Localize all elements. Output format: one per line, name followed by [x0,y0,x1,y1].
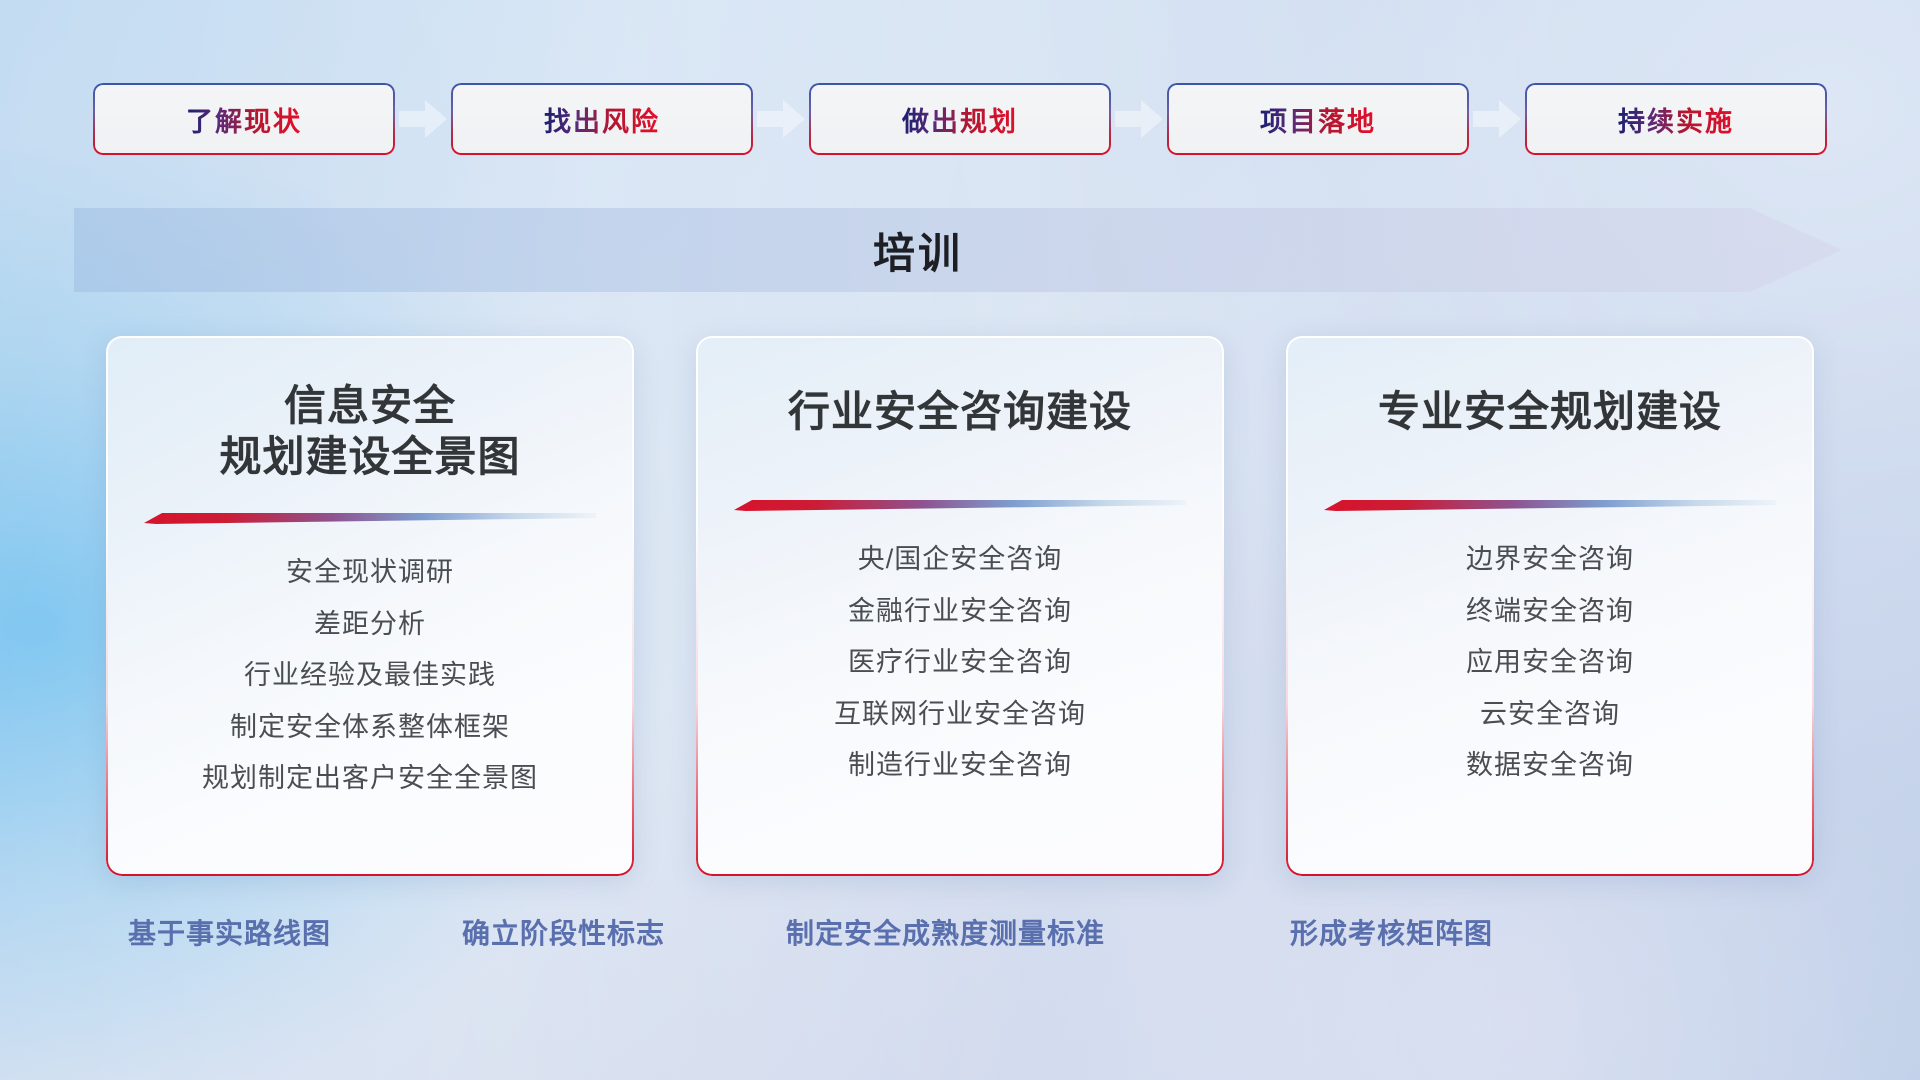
banner-title: 培训 [74,208,1842,292]
list-item: 制造行业安全咨询 [848,747,1072,783]
caption-2: 确立阶段性标志 [462,912,665,952]
list-item: 行业经验及最佳实践 [244,657,496,693]
list-item: 差距分析 [314,606,426,642]
card-2-divider [734,499,1186,511]
list-item: 数据安全咨询 [1466,747,1634,783]
card-2-list: 央/国企安全咨询 金融行业安全咨询 医疗行业安全咨询 互联网行业安全咨询 制造行… [730,541,1190,783]
list-item: 医疗行业安全咨询 [848,644,1072,680]
step-box-5[interactable]: 持续实施 [1525,83,1827,155]
list-item: 制定安全体系整体框架 [230,709,510,745]
card-row: 信息安全 规划建设全景图 [0,336,1920,876]
slide-canvas: 了解现状 找出风险 做出规划 项目落地 [0,0,1920,1080]
step-label-1: 了解现状 [186,100,302,139]
right-arrow-icon-2 [753,94,809,144]
list-item: 规划制定出客户安全全景图 [202,760,538,796]
list-item: 云安全咨询 [1480,696,1620,732]
card-2-title: 行业安全咨询建设 [788,386,1132,437]
card-1-divider [144,512,596,524]
card-3-divider [1324,499,1776,511]
list-item: 边界安全咨询 [1466,541,1634,577]
card-3-title: 专业安全规划建设 [1378,386,1722,437]
card-1[interactable]: 信息安全 规划建设全景图 [106,336,634,876]
list-item: 应用安全咨询 [1466,644,1634,680]
card-1-title: 信息安全 规划建设全景图 [219,380,520,482]
step-box-4[interactable]: 项目落地 [1167,83,1469,155]
step-label-5: 持续实施 [1618,100,1734,139]
training-banner: 培训 [74,208,1842,292]
right-arrow-icon-4 [1469,94,1525,144]
step-label-3: 做出规划 [902,100,1018,139]
list-item: 终端安全咨询 [1466,593,1634,629]
list-item: 互联网行业安全咨询 [834,696,1086,732]
card-3-list: 边界安全咨询 终端安全咨询 应用安全咨询 云安全咨询 数据安全咨询 [1320,541,1780,783]
step-box-2[interactable]: 找出风险 [451,83,753,155]
caption-1: 基于事实路线图 [128,912,331,952]
caption-4: 形成考核矩阵图 [1290,912,1493,952]
step-label-2: 找出风险 [544,100,660,139]
card-3[interactable]: 专业安全规划建设 [1286,336,1814,876]
right-arrow-icon-3 [1111,94,1167,144]
step-label-4: 项目落地 [1260,100,1376,139]
process-step-flow: 了解现状 找出风险 做出规划 项目落地 [0,80,1920,158]
caption-3: 制定安全成熟度测量标准 [786,912,1105,952]
list-item: 安全现状调研 [286,554,454,590]
list-item: 金融行业安全咨询 [848,593,1072,629]
list-item: 央/国企安全咨询 [858,541,1063,577]
caption-row: 基于事实路线图 确立阶段性标志 制定安全成熟度测量标准 形成考核矩阵图 [0,912,1920,972]
right-arrow-icon-1 [395,94,451,144]
step-box-3[interactable]: 做出规划 [809,83,1111,155]
step-box-1[interactable]: 了解现状 [93,83,395,155]
card-2[interactable]: 行业安全咨询建设 [696,336,1224,876]
card-1-list: 安全现状调研 差距分析 行业经验及最佳实践 制定安全体系整体框架 规划制定出客户… [140,554,600,796]
